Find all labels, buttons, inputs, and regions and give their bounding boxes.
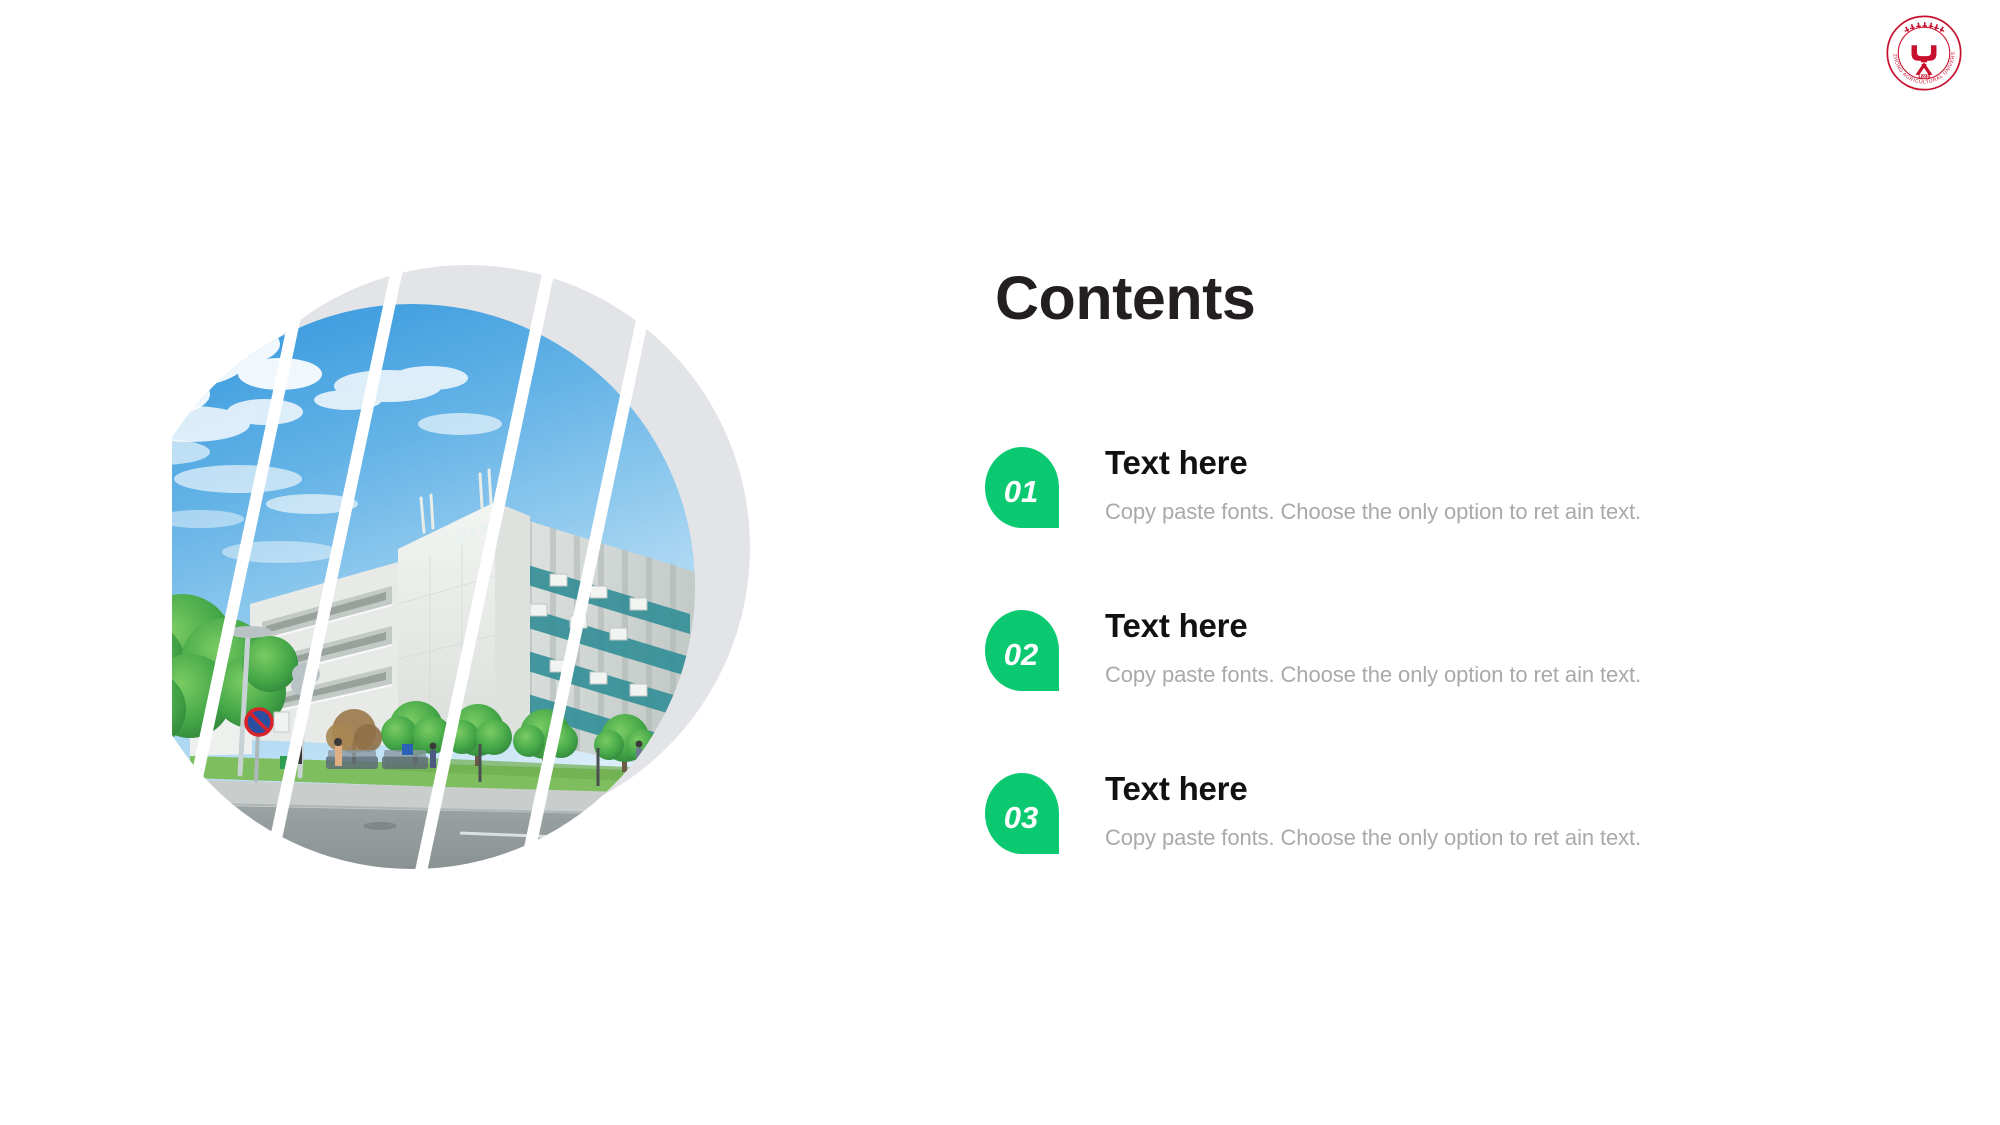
- list-item[interactable]: 02 Text here Copy paste fonts. Choose th…: [985, 610, 1905, 738]
- item-number: 02: [1004, 639, 1038, 670]
- item-number-badge: 02: [985, 610, 1059, 691]
- item-number-badge: 01: [985, 447, 1059, 528]
- list-item[interactable]: 03 Text here Copy paste fonts. Choose th…: [985, 773, 1905, 901]
- page-title: Contents: [995, 268, 1895, 329]
- item-number-badge: 03: [985, 773, 1059, 854]
- content-column: Contents: [995, 268, 1895, 329]
- item-title: Text here: [1105, 607, 1885, 645]
- item-description: Copy paste fonts. Choose the only option…: [1105, 661, 1885, 689]
- university-logo: HUAZHONG AGRICULTURAL UNIVERSITY 1898: [1885, 14, 1963, 92]
- campus-photo: [130, 304, 695, 869]
- item-number: 01: [1004, 476, 1038, 507]
- item-body: Text here Copy paste fonts. Choose the o…: [1105, 770, 1885, 851]
- item-title: Text here: [1105, 770, 1885, 808]
- slide-canvas: HUAZHONG AGRICULTURAL UNIVERSITY 1898: [0, 0, 2000, 1125]
- item-body: Text here Copy paste fonts. Choose the o…: [1105, 607, 1885, 688]
- item-description: Copy paste fonts. Choose the only option…: [1105, 498, 1885, 526]
- item-number: 03: [1004, 802, 1038, 833]
- item-body: Text here Copy paste fonts. Choose the o…: [1105, 444, 1885, 525]
- item-description: Copy paste fonts. Choose the only option…: [1105, 824, 1885, 852]
- logo-year: 1898: [1917, 74, 1931, 80]
- list-item[interactable]: 01 Text here Copy paste fonts. Choose th…: [985, 447, 1905, 575]
- campus-photo-graphic: [130, 265, 750, 865]
- contents-list: 01 Text here Copy paste fonts. Choose th…: [985, 447, 1905, 936]
- item-title: Text here: [1105, 444, 1885, 482]
